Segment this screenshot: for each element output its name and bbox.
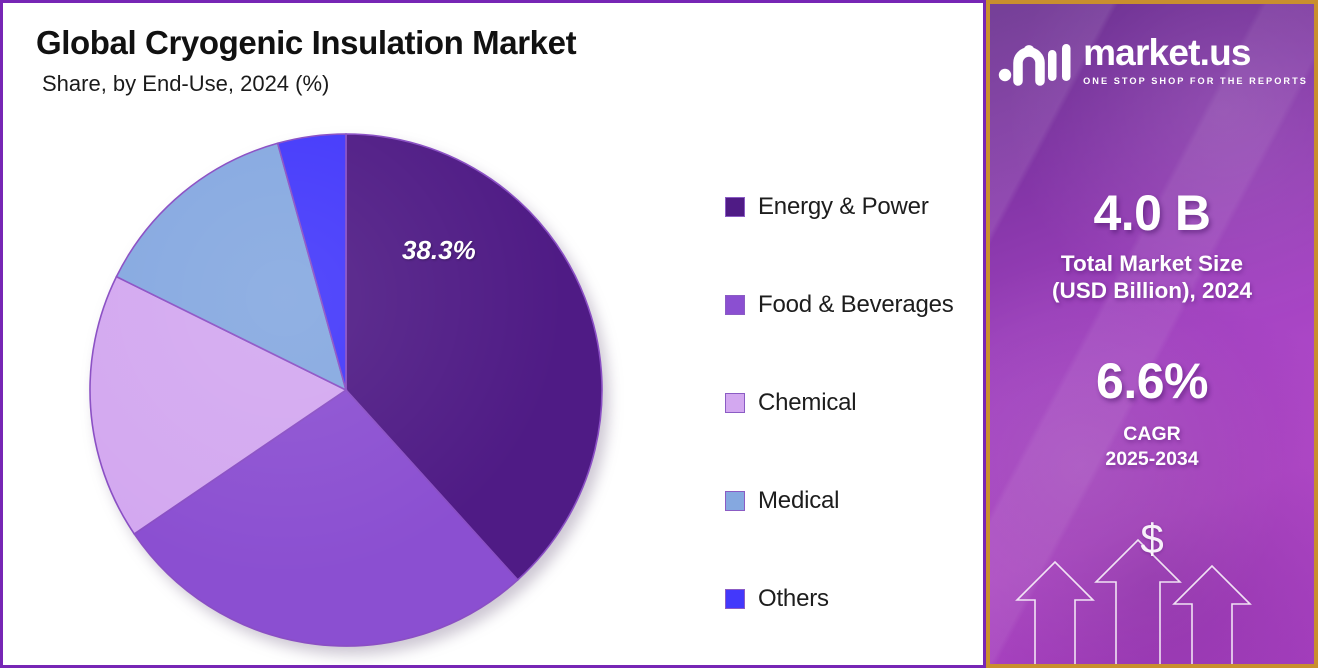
- legend-item-medical[interactable]: Medical: [725, 452, 983, 550]
- page-subtitle: Share, by End-Use, 2024 (%): [42, 71, 576, 97]
- legend-swatch-icon: [725, 491, 745, 511]
- infographic-root: Global Cryogenic Insulation Market Share…: [0, 0, 1318, 668]
- chart-panel: Global Cryogenic Insulation Market Share…: [0, 0, 986, 668]
- legend-label: Medical: [758, 489, 839, 513]
- total-market-size-value: 4.0 B: [990, 184, 1314, 242]
- brand-name: market.us: [1083, 34, 1308, 71]
- legend-item-food-beverages[interactable]: Food & Beverages: [725, 256, 983, 354]
- legend-swatch-icon: [725, 589, 745, 609]
- growth-arrows-decoration: $: [990, 504, 1314, 664]
- legend-swatch-icon: [725, 197, 745, 217]
- page-title: Global Cryogenic Insulation Market: [36, 25, 576, 62]
- legend-label: Chemical: [758, 391, 856, 415]
- market-us-logo-icon: [996, 34, 1074, 86]
- title-block: Global Cryogenic Insulation Market Share…: [36, 25, 576, 97]
- chart-legend: Energy & Power Food & Beverages Chemical…: [725, 158, 983, 648]
- total-market-size-caption: Total Market Size (USD Billion), 2024: [990, 250, 1314, 305]
- brand-stats-panel: market.us ONE STOP SHOP FOR THE REPORTS …: [986, 0, 1318, 668]
- cagr-value: 6.6%: [990, 352, 1314, 410]
- legend-label: Others: [758, 587, 829, 611]
- cagr-caption: CAGR 2025-2034: [990, 422, 1314, 471]
- legend-label: Food & Beverages: [758, 293, 954, 317]
- pie-svg: [89, 133, 603, 647]
- brand-tagline: ONE STOP SHOP FOR THE REPORTS: [1083, 76, 1308, 86]
- legend-item-energy-power[interactable]: Energy & Power: [725, 158, 983, 256]
- legend-swatch-icon: [725, 295, 745, 315]
- total-market-size-caption-line2: (USD Billion), 2024: [990, 277, 1314, 304]
- arrow-up-left-icon: [1017, 562, 1093, 664]
- brand-logo[interactable]: market.us ONE STOP SHOP FOR THE REPORTS: [990, 34, 1314, 86]
- dollar-sign-icon: $: [990, 518, 1314, 560]
- total-market-size-caption-line1: Total Market Size: [990, 250, 1314, 277]
- cagr-caption-line2: 2025-2034: [990, 447, 1314, 472]
- legend-item-others[interactable]: Others: [725, 550, 983, 648]
- pie-chart: 38.3%: [89, 133, 603, 647]
- legend-label: Energy & Power: [758, 195, 929, 219]
- arrow-up-right-icon: [1174, 566, 1250, 664]
- legend-swatch-icon: [725, 393, 745, 413]
- pie-slice-group: [90, 134, 602, 646]
- cagr-caption-line1: CAGR: [990, 422, 1314, 447]
- legend-item-chemical[interactable]: Chemical: [725, 354, 983, 452]
